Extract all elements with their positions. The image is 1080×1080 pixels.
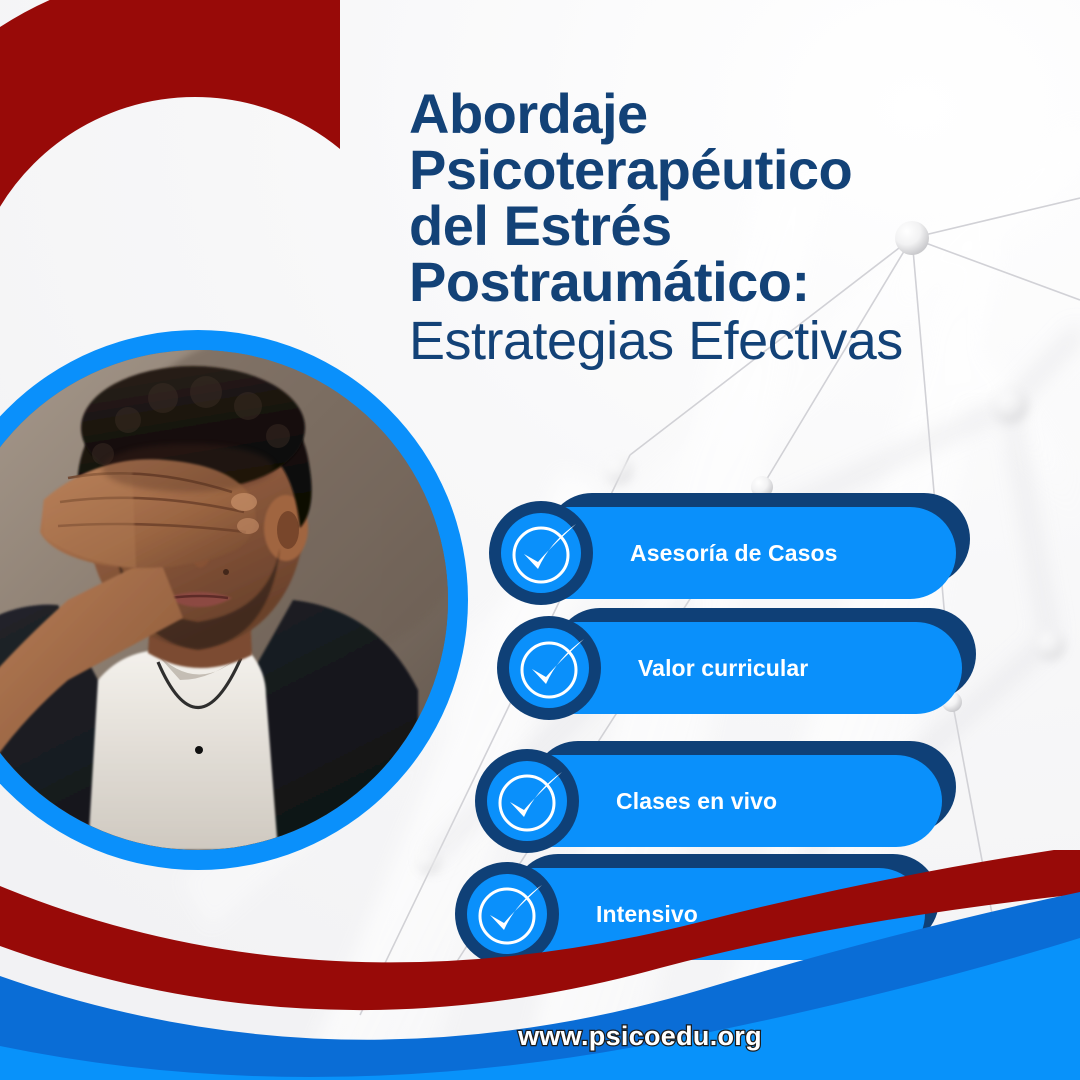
feature-pill-clases-en-vivo[interactable]: Clases en vivo	[508, 755, 942, 847]
check-circle-icon	[450, 857, 564, 971]
feature-label: Asesoría de Casos	[630, 540, 838, 567]
poster-canvas: Abordaje Psicoterapéutico del Estrés Pos…	[0, 0, 1080, 1080]
subtitle: Estrategias Efectivas	[409, 310, 969, 372]
check-circle-icon	[470, 744, 584, 858]
feature-pill-intensivo[interactable]: Intensivo	[488, 868, 925, 960]
footer-url[interactable]: www.psicoedu.org	[0, 1021, 1080, 1052]
feature-label: Intensivo	[596, 901, 698, 928]
feature-pill-valor-curricular[interactable]: Valor curricular	[530, 622, 962, 714]
title-line-2: Psicoterapéutico	[409, 142, 969, 198]
check-circle-icon	[484, 496, 598, 610]
feature-label: Valor curricular	[638, 655, 808, 682]
photo-circle-ring	[0, 330, 468, 870]
check-circle-icon	[492, 611, 606, 725]
feature-pill-asesoria-de-casos[interactable]: Asesoría de Casos	[522, 507, 956, 599]
title-line-1: Abordaje	[409, 86, 969, 142]
hero-photo	[0, 350, 448, 850]
footer-url-text: www.psicoedu.org	[518, 1021, 762, 1051]
feature-label: Clases en vivo	[616, 788, 777, 815]
headline-block: Abordaje Psicoterapéutico del Estrés Pos…	[409, 86, 969, 372]
title-line-4: Postraumático:	[409, 254, 969, 310]
title-line-3: del Estrés	[409, 198, 969, 254]
